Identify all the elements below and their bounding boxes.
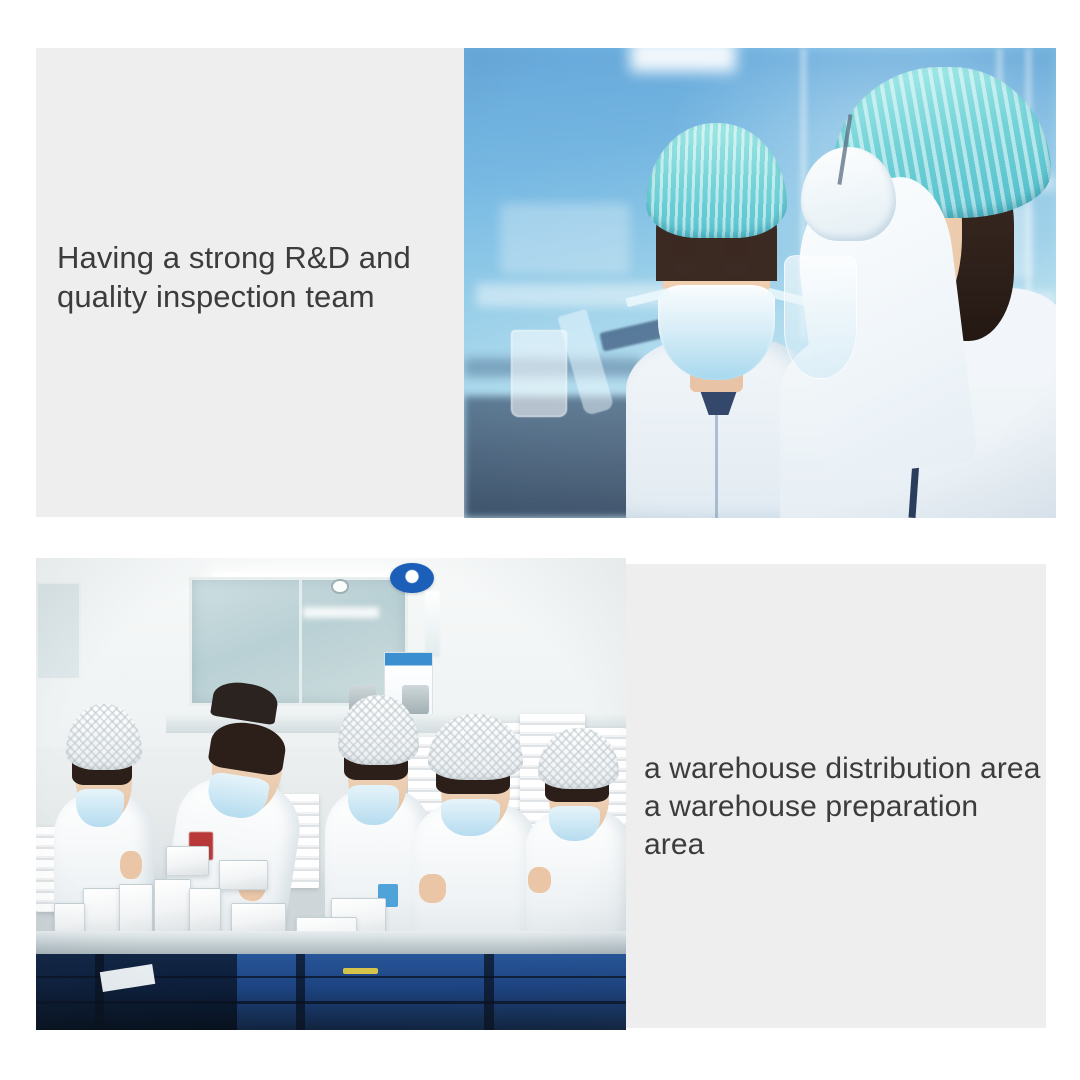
tape-roll: [343, 968, 378, 974]
section-rd-quality-team: Having a strong R&D and quality inspecti…: [36, 48, 1056, 518]
packaging-worker: [526, 728, 626, 945]
lab-eye: [725, 261, 747, 275]
lab-eyebrow: [672, 242, 698, 255]
window-mullion: [299, 580, 302, 703]
lab-eyebrow: [723, 242, 749, 255]
white-carton: [166, 846, 209, 876]
packaging-worker: [414, 714, 538, 950]
warehouse-areas-caption: a warehouse distribution area a warehous…: [644, 750, 1044, 864]
worker-hairnet: [338, 695, 419, 765]
worker-dark-cap: [210, 678, 279, 725]
table-rail: [36, 1001, 626, 1003]
worker-hand: [419, 874, 446, 902]
lab-beaker: [511, 330, 566, 417]
table-leg: [95, 954, 104, 1030]
worker-hairnet: [66, 704, 142, 770]
table-leg: [484, 954, 493, 1030]
steel-table-top: [36, 931, 626, 955]
table-leg: [296, 954, 305, 1030]
worker-hairnet: [428, 714, 522, 780]
warehouse-packaging-photo: [36, 558, 626, 1030]
worker-hairnet: [538, 728, 619, 789]
white-carton: [154, 879, 191, 933]
packaging-side-window: [36, 582, 81, 680]
lab-quality-inspection-photo: [464, 48, 1056, 518]
worker-hand: [120, 851, 142, 879]
worker-hand: [528, 867, 551, 893]
hanging-strip-curtain: [425, 591, 440, 657]
white-carton: [219, 860, 268, 890]
lab-flask: [784, 255, 857, 379]
white-carton: [119, 884, 153, 938]
packaging-scene-illustration: [36, 558, 626, 1030]
lab-cabinet: [500, 203, 630, 274]
rd-quality-team-caption: Having a strong R&D and quality inspecti…: [57, 238, 457, 316]
section-warehouse-areas: a warehouse distribution area a warehous…: [36, 558, 1046, 1030]
wall-clock-icon: [331, 579, 349, 594]
lab-eye: [674, 261, 696, 275]
window-light-reflection: [303, 607, 379, 618]
page-root: Having a strong R&D and quality inspecti…: [0, 0, 1080, 1080]
white-carton: [189, 888, 221, 932]
lab-scene-illustration: [464, 48, 1056, 518]
lab-hairnet-cap: [646, 123, 787, 237]
white-carton: [231, 903, 286, 933]
blue-table-frame: [36, 954, 626, 1030]
lab-ceiling-light: [630, 48, 737, 72]
